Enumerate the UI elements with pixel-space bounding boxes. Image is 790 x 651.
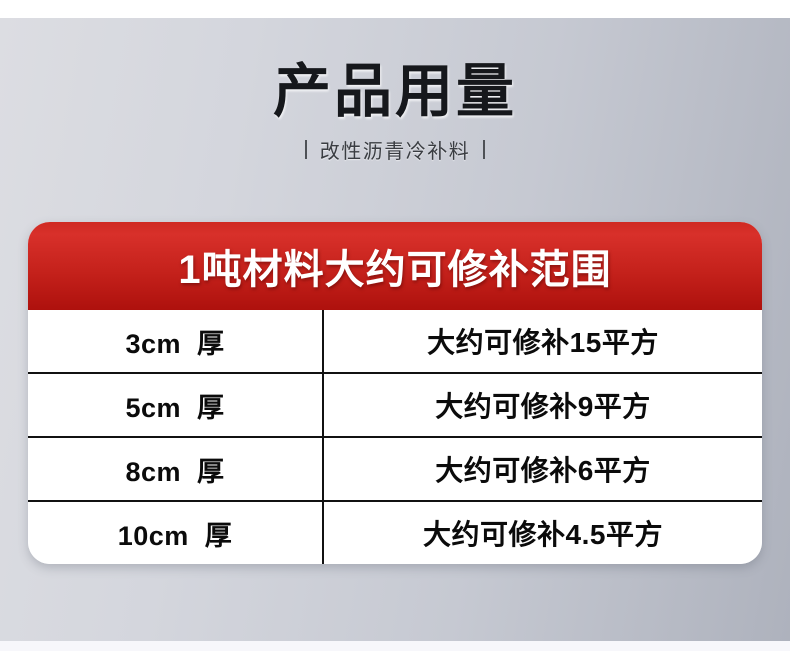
coverage-value: 大约可修补9平方	[435, 385, 651, 425]
table-cell-thickness: 8cm 厚	[28, 438, 324, 500]
coverage-value: 大约可修补15平方	[427, 321, 659, 361]
coverage-value: 大约可修补6平方	[435, 449, 651, 489]
thickness-value: 3cm 厚	[125, 322, 224, 361]
table-cell-thickness: 3cm 厚	[28, 310, 324, 372]
table-cell-coverage: 大约可修补6平方	[324, 438, 762, 500]
page-subtitle: 改性沥青冷补料	[320, 135, 471, 164]
usage-table-banner: 1吨材料大约可修补范围	[28, 222, 762, 310]
subtitle-row: 改性沥青冷补料	[0, 135, 790, 164]
table-cell-coverage: 大约可修补15平方	[324, 310, 762, 372]
vertical-bar-right-icon	[483, 140, 485, 159]
table-row: 10cm 厚 大约可修补4.5平方	[28, 500, 762, 564]
table-cell-thickness: 10cm 厚	[28, 502, 324, 564]
table-row: 5cm 厚 大约可修补9平方	[28, 372, 762, 436]
header-block: 产品用量 改性沥青冷补料	[0, 62, 790, 164]
bottom-white-band	[0, 641, 790, 651]
thickness-value: 8cm 厚	[125, 450, 224, 489]
table-cell-coverage: 大约可修补4.5平方	[324, 502, 762, 564]
product-usage-infographic: 产品用量 改性沥青冷补料 1吨材料大约可修补范围 3cm 厚 大约可修补15平方	[0, 0, 790, 651]
usage-table: 3cm 厚 大约可修补15平方 5cm 厚 大约可修补9平方	[28, 310, 762, 564]
table-row: 8cm 厚 大约可修补6平方	[28, 436, 762, 500]
table-row: 3cm 厚 大约可修补15平方	[28, 310, 762, 372]
thickness-value: 10cm 厚	[118, 514, 233, 553]
thickness-value: 5cm 厚	[125, 386, 224, 425]
table-cell-thickness: 5cm 厚	[28, 374, 324, 436]
coverage-value: 大约可修补4.5平方	[423, 513, 663, 553]
page-title: 产品用量	[0, 62, 790, 121]
table-cell-coverage: 大约可修补9平方	[324, 374, 762, 436]
vertical-bar-left-icon	[305, 140, 307, 159]
usage-table-card: 1吨材料大约可修补范围 3cm 厚 大约可修补15平方 5cm 厚	[28, 222, 762, 564]
usage-table-banner-label: 1吨材料大约可修补范围	[178, 237, 611, 295]
gradient-backdrop: 产品用量 改性沥青冷补料 1吨材料大约可修补范围 3cm 厚 大约可修补15平方	[0, 18, 790, 641]
top-white-band	[0, 0, 790, 18]
